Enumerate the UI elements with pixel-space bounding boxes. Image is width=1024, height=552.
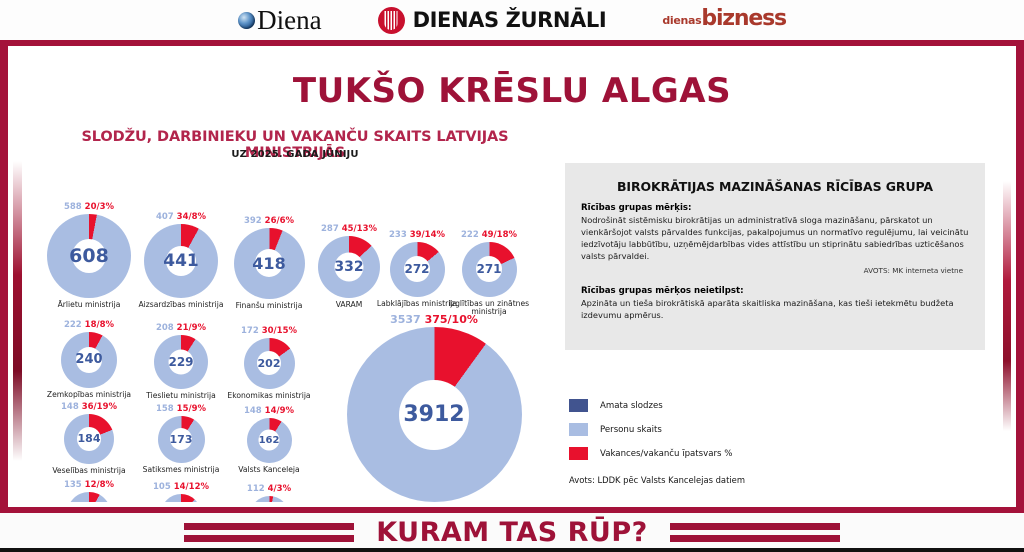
donut-value-caption: 148 14/9% [244,407,294,416]
panel-heading-2: Rīcības grupas mērķos neietilpst: [581,285,969,297]
legend-item: Amata slodzes [569,399,969,412]
donut-value-caption: 3537 375/10% [390,314,478,325]
donut-cell: 135 12/8%147Iekšlietu ministrija [37,481,141,502]
vacancy-count-pct: 18/8% [85,320,114,330]
vacancy-count-pct: 34/8% [177,212,206,222]
banner-bar [184,523,354,530]
vacancy-count-pct: 4/3% [268,484,291,494]
donut-cell: 112 4/3%116Kultūras ministrija [217,485,321,502]
panel-title: BIROKRĀTIJAS MAZINĀŠANAS RĪCĪBAS GRUPA [565,163,985,202]
donut-total-value: 202 [244,338,295,389]
panel-source-1: AVOTS: MK interneta vietne [581,266,969,276]
donut-label: Satiksmes ministrija [143,466,220,475]
data-source-note: Avots: LDDK pēc Valsts Kancelejas datiem [569,475,745,485]
donut-value-caption: 588 20/3% [64,203,114,212]
dienas-zurnali-logo-text: DIENAS ŽURNĀLI [413,8,607,32]
donut-cell: 588 20/3%608Ārlietu ministrija [37,203,141,309]
diena-logo-text: Diena [257,5,321,36]
diena-logo: Diena [238,5,321,36]
infographic-page: Diena DIENAS ŽURNĀLI dienas bizness TUKŠ… [0,0,1024,552]
donut-label: Valsts Kanceleja [238,466,299,475]
vacancy-count-pct: 21/9% [177,323,206,333]
dienas-bizness-logo: dienas bizness [662,11,786,30]
donut-ring: 240 [61,332,117,388]
infographic-canvas: TUKŠO KRĒSLU ALGAS SLODŽU, DARBINIEKU UN… [13,51,1011,502]
donut-cell: 172 30/15%202Ekonomikas ministrija [217,327,321,400]
donut-value-caption: 135 12/8% [64,481,114,490]
panel-spacer [581,277,969,285]
donut-total-value: 119 [161,494,201,503]
legend-label: Vakances/vakanču īpatsvars % [600,449,732,459]
vacancy-count-pct: 36/19% [82,402,117,412]
filled-count: 588 [64,202,82,212]
donut-chart-grid: 588 20/3%608Ārlietu ministrija407 34/8%4… [31,169,551,502]
publisher-logo-bar: Diena DIENAS ŽURNĀLI dienas bizness [0,0,1024,40]
donut-total-value: 173 [158,416,205,463]
legend-swatch-personu-skaits [569,423,588,436]
filled-count: 135 [64,480,82,490]
vacancy-count-pct: 12/8% [85,480,114,490]
donut-total-value: 116 [250,496,289,503]
panel-heading-1: Rīcības grupas mērķis: [581,202,969,214]
donut-value-caption: 208 21/9% [156,324,206,333]
donut-total-value: 271 [462,242,517,297]
filled-count: 112 [247,484,265,494]
donut-label: Finanšu ministrija [236,302,303,311]
filled-count: 287 [321,224,339,234]
vacancy-count-pct: 49/18% [482,230,517,240]
donut-label: Ārlietu ministrija [58,301,121,310]
donut-value-caption: 172 30/15% [241,327,297,336]
donut-cell: 222 18/8%240Zemkopības ministrija [37,321,141,399]
filled-count: 233 [389,230,407,240]
left-red-edge [13,161,22,461]
donut-label: Veselības ministrija [52,467,125,476]
donut-ring: 3912 [347,327,522,502]
donut-cell-total: 3537 375/10%3912Kopā [329,314,539,502]
legend-swatch-vakances [569,447,588,460]
legend-swatch-amata-slodzes [569,399,588,412]
donut-ring: 119 [161,494,201,503]
donut-ring: 173 [158,416,205,463]
filled-count: 148 [244,406,262,416]
banner-bar [670,523,840,530]
filled-count: 3537 [390,313,421,326]
donut-total-value: 608 [47,214,131,298]
donut-cell: 222 49/18%271Izglītības un zinātnes mini… [437,231,541,317]
legend-label: Amata slodzes [600,401,663,411]
donut-ring: 418 [234,228,305,299]
donut-value-caption: 158 15/9% [156,405,206,414]
section-subtitle: UZ 2025. GADA JŪNIJU [35,149,555,160]
legend-item: Vakances/vakanču īpatsvars % [569,447,969,460]
right-red-edge [1003,181,1011,431]
globe-icon [238,12,255,29]
filled-count: 208 [156,323,174,333]
legend-item: Personu skaits [569,423,969,436]
action-group-panel: BIROKRĀTIJAS MAZINĀŠANAS RĪCĪBAS GRUPA R… [565,163,985,350]
donut-cell: 148 36/19%184Veselības ministrija [37,403,141,475]
donut-label: Ekonomikas ministrija [227,392,310,401]
panel-text-1: Nodrošināt sistēmisku birokrātijas un ad… [581,215,969,262]
donut-label: VARAM [336,301,363,310]
legend-label: Personu skaits [600,425,662,435]
maroon-frame: TUKŠO KRĒSLU ALGAS SLODŽU, DARBINIEKU UN… [0,40,1024,513]
donut-value-caption: 222 18/8% [64,321,114,330]
donut-total-value: 240 [61,332,117,388]
donut-ring: 229 [154,335,208,389]
donut-label: Zemkopības ministrija [47,391,131,400]
dienas-bizness-line2: bizness [701,8,785,30]
dienas-bizness-line1: dienas [662,15,701,26]
chart-legend: Amata slodzes Personu skaits Vakances/va… [569,399,969,471]
vacancy-count-pct: 14/9% [265,406,294,416]
donut-total-value: 184 [64,414,114,464]
donut-label: Tieslietu ministrija [146,392,216,401]
donut-ring: 271 [462,242,517,297]
donut-value-caption: 105 14/12% [153,483,209,492]
donut-ring: 441 [144,224,218,298]
donut-total-value: 162 [247,418,292,463]
donut-value-caption: 112 4/3% [247,485,291,494]
vacancy-count-pct: 375/10% [425,313,478,326]
panel-body: Rīcības grupas mērķis: Nodrošināt sistēm… [565,202,985,321]
filled-count: 172 [241,326,259,336]
vacancy-count-pct: 15/9% [177,404,206,414]
donut-total-value: 229 [154,335,208,389]
bottom-banner: KURAM TAS RŪP? [0,513,1024,552]
banner-bar [184,535,354,542]
donut-ring: 116 [250,496,289,503]
fan-circle-icon [378,7,405,34]
filled-count: 407 [156,212,174,222]
filled-count: 222 [461,230,479,240]
vacancy-count-pct: 14/12% [174,482,209,492]
frame-inner: TUKŠO KRĒSLU ALGAS SLODŽU, DARBINIEKU UN… [8,46,1016,507]
donut-total-value: 418 [234,228,305,299]
filled-count: 158 [156,404,174,414]
donut-value-caption: 392 26/6% [244,217,294,226]
donut-cell: 148 14/9%162Valsts Kanceleja [217,407,321,474]
banner-slogan: KURAM TAS RŪP? [354,517,670,548]
page-title: TUKŠO KRĒSLU ALGAS [13,71,1011,111]
vacancy-count-pct: 30/15% [262,326,297,336]
dienas-zurnali-logo: DIENAS ŽURNĀLI [378,7,607,34]
filled-count: 222 [64,320,82,330]
filled-count: 148 [61,402,79,412]
donut-total-value: 441 [144,224,218,298]
banner-bar [670,535,840,542]
vacancy-count-pct: 20/3% [85,202,114,212]
donut-total-value: 3912 [347,327,522,502]
donut-ring: 147 [67,492,111,503]
donut-ring: 184 [64,414,114,464]
panel-text-2: Apzināta un tieša birokrātiskā aparāta s… [581,298,969,322]
banner-bars-left [184,523,354,542]
donut-label: Aizsardzības ministrija [138,301,223,310]
donut-ring: 608 [47,214,131,298]
banner-bars-right [670,523,840,542]
filled-count: 392 [244,216,262,226]
donut-ring: 202 [244,338,295,389]
donut-value-caption: 222 49/18% [461,231,517,240]
filled-count: 105 [153,482,171,492]
vacancy-count-pct: 26/6% [265,216,294,226]
donut-ring: 162 [247,418,292,463]
donut-total-value: 147 [67,492,111,503]
donut-value-caption: 148 36/19% [61,403,117,412]
donut-value-caption: 407 34/8% [156,213,206,222]
footer-rule [0,548,1024,552]
